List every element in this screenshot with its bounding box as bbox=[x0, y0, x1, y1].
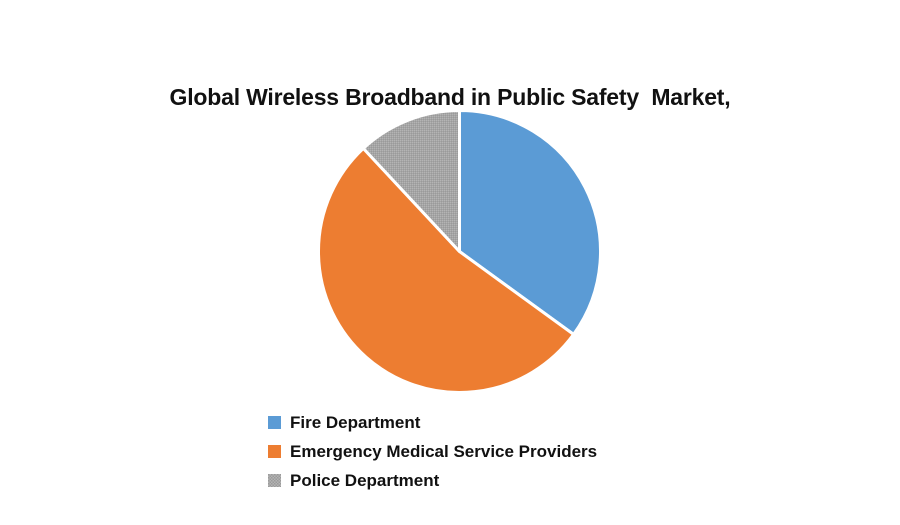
legend-item-police-department[interactable]: Police Department bbox=[268, 466, 828, 495]
chart-legend: Fire Department Emergency Medical Servic… bbox=[268, 408, 828, 495]
pie-chart bbox=[318, 110, 601, 393]
chart-title-line-1: Global Wireless Broadband in Public Safe… bbox=[0, 82, 900, 113]
pie-slice-group bbox=[318, 111, 600, 393]
legend-label-emergency-medical-service-providers: Emergency Medical Service Providers bbox=[290, 442, 597, 462]
legend-label-fire-department: Fire Department bbox=[290, 413, 420, 433]
legend-label-police-department: Police Department bbox=[290, 471, 439, 491]
legend-swatch-police-department bbox=[268, 474, 281, 487]
legend-item-emergency-medical-service-providers[interactable]: Emergency Medical Service Providers bbox=[268, 437, 828, 466]
legend-swatch-fire-department bbox=[268, 416, 281, 429]
legend-item-fire-department[interactable]: Fire Department bbox=[268, 408, 828, 437]
legend-swatch-emergency-medical-service-providers bbox=[268, 445, 281, 458]
chart-canvas: Global Wireless Broadband in Public Safe… bbox=[0, 0, 900, 525]
pie-chart-svg bbox=[318, 110, 601, 393]
